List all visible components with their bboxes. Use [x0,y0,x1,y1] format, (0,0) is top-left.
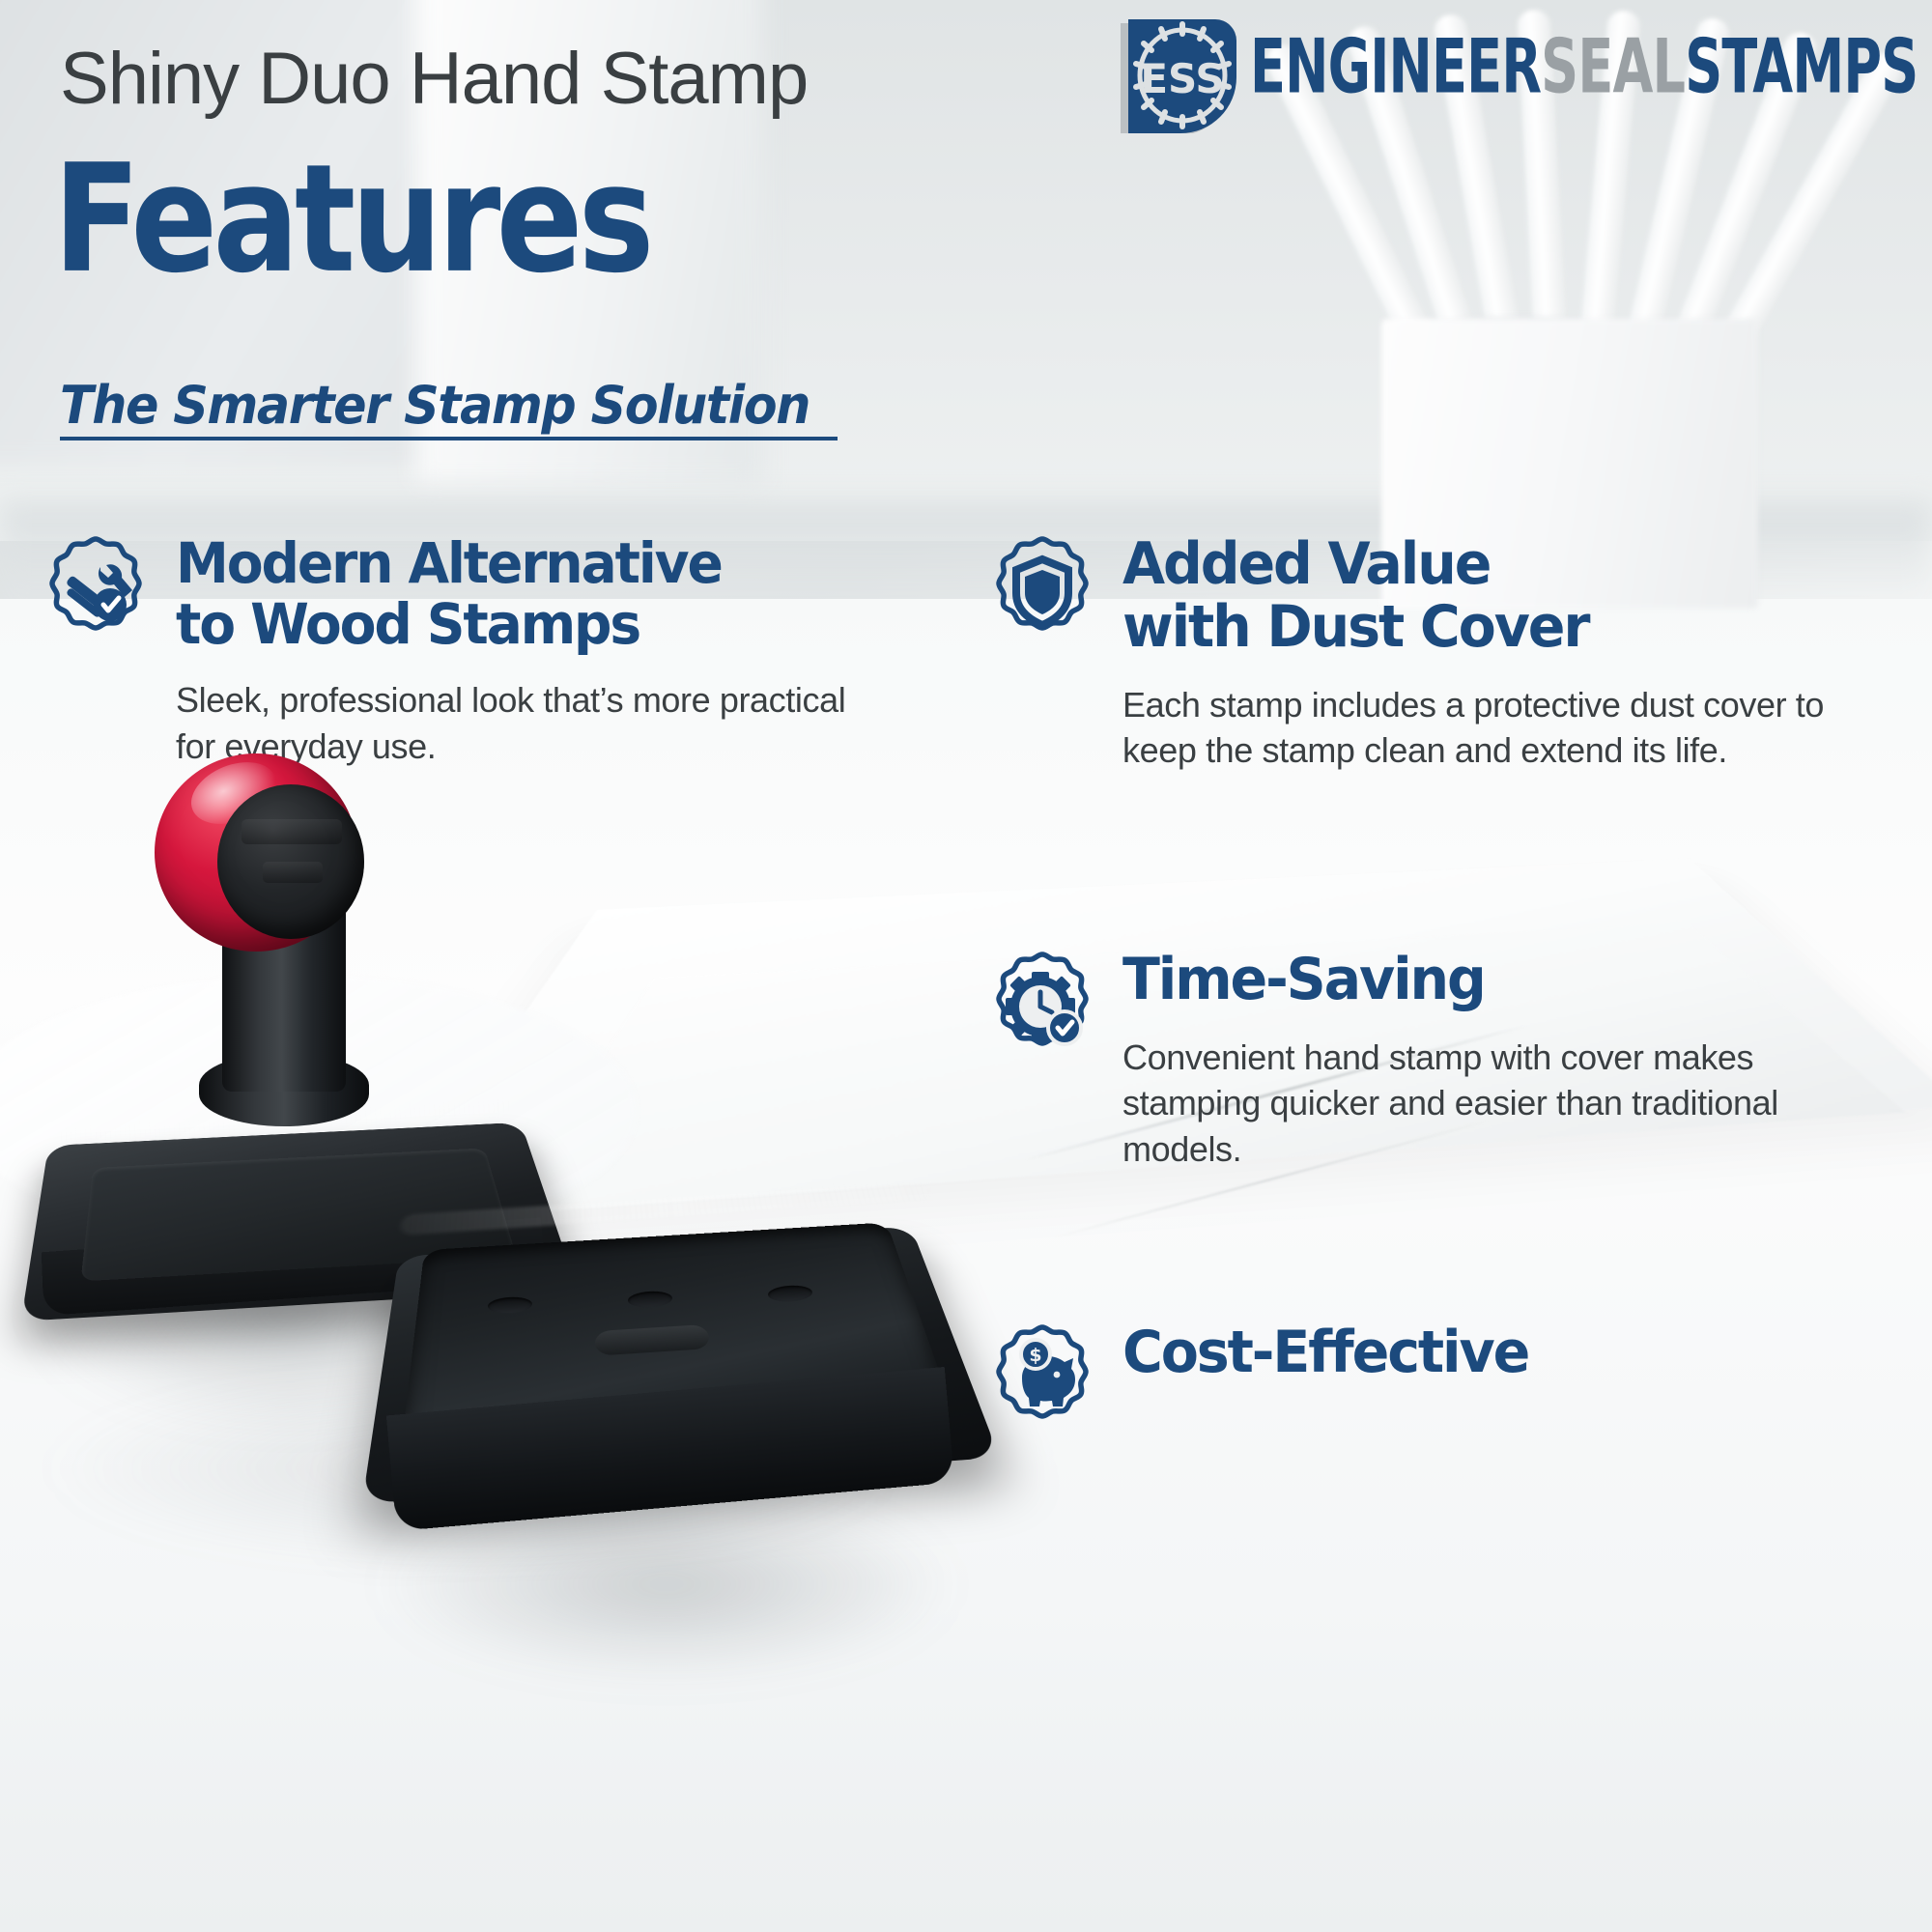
tagline-underline [60,437,838,440]
stamp-embossed-brand [241,819,342,844]
feature-title-line-1: Time-Saving [1122,949,1820,1011]
feature-title-line-1: Added Value [1122,533,1802,596]
feature-time-saving: Time-Saving Convenient hand stamp with c… [983,949,1901,1172]
headline: Features [53,145,650,295]
logo-word-stamps: STAMPS [1685,29,1918,104]
feature-title: Added Value with Dust Cover [1122,533,1802,659]
header: Shiny Duo Hand Stamp Features The Smarte… [0,0,1932,483]
feature-body: Added Value with Dust Cover Each stamp i… [1122,533,1837,774]
feature-description: Each stamp includes a protective dust co… [1122,682,1837,774]
feature-description: Convenient hand stamp with cover makes s… [1122,1035,1857,1173]
feature-title-line-2: to Wood Stamps [176,594,818,655]
shield-badge-icon [983,533,1101,651]
feature-cost-effective: $ Cost-Effective [983,1321,1901,1439]
ess-monogram: ESS [1140,55,1224,102]
feature-body: Time-Saving Convenient hand stamp with c… [1122,949,1857,1172]
tagline: The Smarter Stamp Solution [60,375,810,436]
feature-title: Cost-Effective [1122,1321,1528,1384]
feature-title-line-1: Modern Alternative [176,533,818,594]
brand-logo[interactable]: ESS ENGINEERSEALSTAMPS .COM [1119,17,1932,133]
feature-modern-alternative: Modern Alternative to Wood Stamps Sleek,… [37,533,925,769]
logo-word-seal: SEAL [1541,29,1685,104]
wrench-check-badge-icon [37,533,155,651]
logo-word-engineer: ENGINEER [1250,29,1541,104]
feature-body: Cost-Effective [1122,1321,1549,1384]
product-photo-shiny-duo-hand-stamp [0,908,1024,1932]
ess-shield-icon: ESS [1119,17,1236,133]
feature-title-line-1: Cost-Effective [1122,1321,1528,1384]
feature-title: Modern Alternative to Wood Stamps [176,533,818,654]
feature-title: Time-Saving [1122,949,1820,1011]
stamp-embossed-model [263,862,323,883]
dollar-sign-glyph: $ [1029,1345,1041,1366]
feature-title-line-2: with Dust Cover [1122,596,1802,659]
page-title: Shiny Duo Hand Stamp [60,37,808,121]
feature-body: Modern Alternative to Wood Stamps Sleek,… [176,533,852,769]
feature-added-value-dust-cover: Added Value with Dust Cover Each stamp i… [983,533,1901,774]
logo-wordmark: ENGINEERSEALSTAMPS [1250,29,1918,109]
